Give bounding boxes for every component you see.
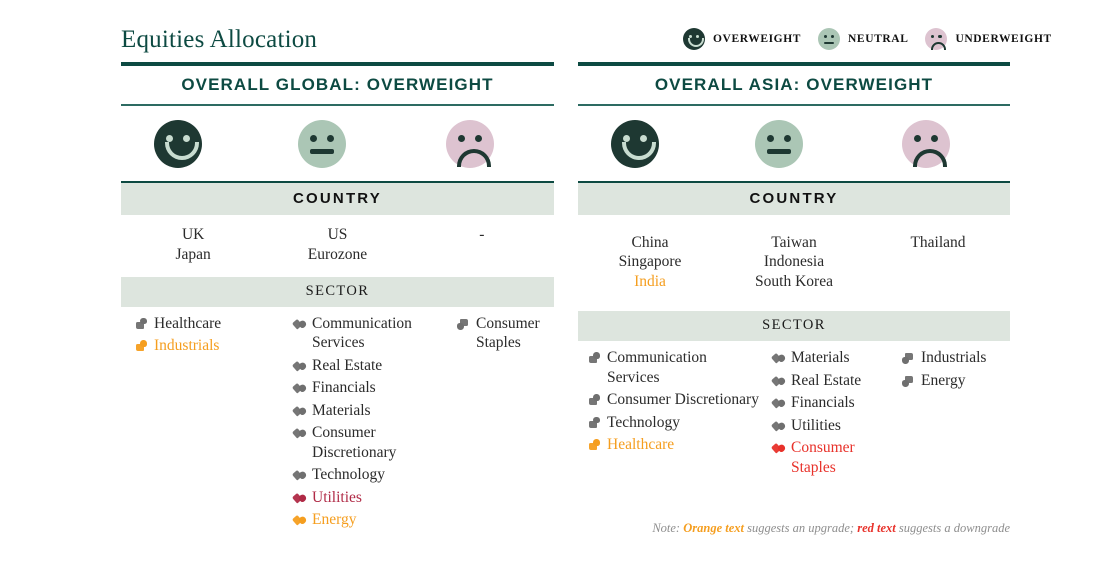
face-eye-left — [824, 35, 827, 38]
sector-item-label: Consumer Staples — [791, 438, 892, 477]
rating-column-neutral — [719, 120, 863, 168]
sector-item[interactable]: Technology — [291, 465, 443, 485]
sector-column: Communication ServicesReal EstateFinanci… — [279, 314, 443, 533]
country-item[interactable]: Taiwan — [722, 233, 866, 253]
face-mouth — [824, 42, 835, 44]
country-item[interactable]: UK — [121, 225, 265, 245]
sector-item[interactable]: Healthcare — [133, 314, 279, 334]
legend-item-happy: OVERWEIGHT — [683, 28, 801, 50]
overall-heading: OVERALL GLOBAL: OVERWEIGHT — [121, 66, 554, 104]
sector-item-label: Consumer Staples — [476, 314, 554, 353]
sector-item[interactable]: Financials — [291, 378, 443, 398]
sector-column: Consumer Staples — [443, 314, 554, 533]
thumb-side-icon — [291, 401, 308, 421]
thumb-side-icon — [291, 423, 308, 443]
sector-column: MaterialsReal EstateFinancialsUtilitiesC… — [762, 348, 892, 480]
sector-item-label: Industrials — [154, 336, 279, 356]
sector-item[interactable]: Financials — [770, 393, 892, 413]
face-eye-right — [931, 135, 938, 142]
sector-item-label: Industrials — [921, 348, 1010, 368]
sector-item-label: Financials — [791, 393, 892, 413]
face-eye-left — [914, 135, 921, 142]
face-eye-left — [931, 35, 934, 38]
face-eye-right — [784, 135, 791, 142]
face-eye-left — [767, 135, 774, 142]
sector-item-label: Energy — [921, 371, 1010, 391]
smiley-face-icon — [154, 120, 202, 168]
note-red-text: red text — [857, 521, 896, 535]
rating-faces-row — [121, 106, 554, 181]
country-item[interactable]: Indonesia — [722, 252, 866, 272]
sector-columns: Communication ServicesConsumer Discretio… — [578, 341, 1010, 480]
face-eye-left — [623, 135, 630, 142]
face-mouth — [767, 149, 791, 154]
sector-item[interactable]: Energy — [291, 510, 443, 530]
sector-item-label: Healthcare — [607, 435, 762, 455]
face-eye-right — [640, 135, 647, 142]
legend-item-sad: UNDERWEIGHT — [925, 28, 1051, 50]
rating-column-happy — [121, 120, 262, 168]
country-column: ChinaSingaporeIndia — [578, 233, 722, 292]
country-column: Thailand — [866, 233, 1010, 292]
sector-item[interactable]: Materials — [770, 348, 892, 368]
sector-item-label: Utilities — [791, 416, 892, 436]
footnote: Note: Orange text suggests an upgrade; r… — [652, 521, 1010, 536]
sector-item-label: Real Estate — [791, 371, 892, 391]
sector-item-label: Healthcare — [154, 314, 279, 334]
thumb-digit — [593, 439, 600, 446]
thumb-digit — [140, 318, 147, 325]
face-eye-right — [831, 35, 834, 38]
thumb-side-icon — [291, 378, 308, 398]
face-eye-left — [310, 135, 317, 142]
panel-asia: OVERALL ASIA: OVERWEIGHTCOUNTRYChinaSing… — [578, 62, 1010, 480]
face-eye-left — [166, 135, 173, 142]
thumb-side-icon — [291, 356, 308, 376]
country-item[interactable]: Japan — [121, 245, 265, 265]
thumb-up-icon — [586, 435, 603, 455]
country-column: TaiwanIndonesiaSouth Korea — [722, 233, 866, 292]
legend: OVERWEIGHTNEUTRALUNDERWEIGHT — [683, 28, 1052, 50]
frown-face-icon — [925, 28, 947, 50]
legend-label: OVERWEIGHT — [713, 33, 801, 45]
sector-item[interactable]: Industrials — [133, 336, 279, 356]
sector-item-label: Technology — [607, 413, 762, 433]
face-eye-right — [183, 135, 190, 142]
note-prefix: Note: — [652, 521, 683, 535]
sector-item[interactable]: Real Estate — [291, 356, 443, 376]
section-spacer — [578, 291, 1010, 311]
note-suffix: suggests a downgrade — [896, 521, 1010, 535]
equities-allocation-page: Equities Allocation OVERWEIGHTNEUTRALUND… — [0, 0, 1100, 570]
thumb-side-icon — [770, 393, 787, 413]
thumb-side-icon — [291, 314, 308, 334]
face-mouth — [913, 149, 947, 167]
sector-item[interactable]: Real Estate — [770, 371, 892, 391]
thumb-side-icon — [291, 488, 308, 508]
face-mouth — [931, 42, 946, 50]
rating-column-sad — [407, 120, 554, 168]
sector-item[interactable]: Communication Services — [291, 314, 443, 353]
sector-section-header: SECTOR — [121, 277, 554, 307]
country-item[interactable]: South Korea — [722, 272, 866, 292]
sector-item-label: Materials — [791, 348, 892, 368]
sector-item-label: Communication Services — [312, 314, 443, 353]
face-eye-left — [458, 135, 465, 142]
country-item[interactable]: US — [265, 225, 409, 245]
thumb-up-icon — [586, 413, 603, 433]
thumb-digit — [593, 352, 600, 359]
sector-column: HealthcareIndustrials — [121, 314, 279, 533]
thumb-digit — [903, 380, 910, 387]
sector-item-label: Materials — [312, 401, 443, 421]
thumb-down-icon — [900, 371, 917, 391]
country-section-header: COUNTRY — [121, 181, 554, 215]
smiley-face-icon — [611, 120, 659, 168]
thumb-side-icon — [770, 348, 787, 368]
country-item[interactable]: Thailand — [866, 233, 1010, 253]
neutral-face-icon — [755, 120, 803, 168]
thumb-up-icon — [133, 314, 150, 334]
country-item[interactable]: - — [410, 225, 554, 245]
face-mouth — [165, 142, 199, 160]
legend-item-neutral: NEUTRAL — [818, 28, 908, 50]
sector-columns: HealthcareIndustrialsCommunication Servi… — [121, 307, 554, 533]
rating-faces-row — [578, 106, 1010, 181]
country-item[interactable]: China — [578, 233, 722, 253]
country-item[interactable]: India — [578, 272, 722, 292]
sector-item[interactable]: Utilities — [291, 488, 443, 508]
sector-item[interactable]: Consumer Staples — [770, 438, 892, 477]
sector-item[interactable]: Industrials — [900, 348, 1010, 368]
face-mouth — [622, 142, 656, 160]
country-column: - — [410, 225, 554, 265]
thumb-up-icon — [586, 390, 603, 410]
thumb-up-icon — [586, 348, 603, 368]
thumb-side-icon — [770, 438, 787, 458]
face-eye-right — [475, 135, 482, 142]
frown-face-icon — [902, 120, 950, 168]
sector-item-label: Consumer Discretionary — [312, 423, 443, 462]
thumb-digit — [903, 358, 910, 365]
neutral-face-icon — [818, 28, 840, 50]
sector-item[interactable]: Consumer Staples — [455, 314, 554, 353]
sector-item-label: Technology — [312, 465, 443, 485]
panel-global: OVERALL GLOBAL: OVERWEIGHTCOUNTRYUKJapan… — [121, 62, 554, 533]
sector-item[interactable]: Energy — [900, 371, 1010, 391]
rating-column-happy — [578, 120, 719, 168]
legend-label: UNDERWEIGHT — [955, 33, 1051, 45]
thumb-digit — [593, 417, 600, 424]
thumb-up-icon — [133, 336, 150, 356]
frown-face-icon — [446, 120, 494, 168]
thumb-digit — [140, 340, 147, 347]
smiley-face-icon — [683, 28, 705, 50]
sector-item[interactable]: Consumer Discretionary — [291, 423, 443, 462]
thumb-down-icon — [455, 314, 472, 334]
sector-item[interactable]: Utilities — [770, 416, 892, 436]
sector-item[interactable]: Healthcare — [586, 435, 762, 455]
thumb-down-icon — [900, 348, 917, 368]
sector-item[interactable]: Materials — [291, 401, 443, 421]
country-section-header: COUNTRY — [578, 181, 1010, 215]
thumb-side-icon — [291, 510, 308, 530]
neutral-face-icon — [298, 120, 346, 168]
country-column: UKJapan — [121, 225, 265, 265]
sector-item-label: Financials — [312, 378, 443, 398]
thumb-side-icon — [291, 465, 308, 485]
face-mouth — [457, 149, 491, 167]
country-item[interactable]: Singapore — [578, 252, 722, 272]
overall-heading: OVERALL ASIA: OVERWEIGHT — [578, 66, 1010, 104]
sector-section-header: SECTOR — [578, 311, 1010, 341]
rating-column-neutral — [262, 120, 406, 168]
thumb-digit — [593, 394, 600, 401]
country-columns: UKJapanUSEurozone- — [121, 215, 554, 265]
page-title: Equities Allocation — [121, 26, 317, 54]
country-column: USEurozone — [265, 225, 409, 265]
thumb-digit — [458, 323, 465, 330]
sector-item[interactable]: Consumer Discretionary — [586, 390, 762, 410]
rating-column-sad — [863, 120, 1010, 168]
sector-item-label: Real Estate — [312, 356, 443, 376]
country-columns: ChinaSingaporeIndiaTaiwanIndonesiaSouth … — [578, 215, 1010, 292]
thumb-side-icon — [770, 371, 787, 391]
note-middle: suggests an upgrade; — [744, 521, 857, 535]
sector-item-label: Communication Services — [607, 348, 762, 387]
sector-column: IndustrialsEnergy — [892, 348, 1010, 480]
sector-item-label: Energy — [312, 510, 443, 530]
country-item[interactable]: Eurozone — [265, 245, 409, 265]
face-mouth — [310, 149, 334, 154]
face-mouth — [688, 38, 703, 46]
sector-column: Communication ServicesConsumer Discretio… — [578, 348, 762, 480]
sector-item-label: Consumer Discretionary — [607, 390, 762, 410]
note-orange-text: Orange text — [683, 521, 744, 535]
thumb-side-icon — [770, 416, 787, 436]
sector-item[interactable]: Technology — [586, 413, 762, 433]
face-eye-right — [938, 35, 941, 38]
legend-label: NEUTRAL — [848, 33, 908, 45]
face-eye-right — [327, 135, 334, 142]
sector-item-label: Utilities — [312, 488, 443, 508]
sector-item[interactable]: Communication Services — [586, 348, 762, 387]
section-spacer — [121, 265, 554, 277]
